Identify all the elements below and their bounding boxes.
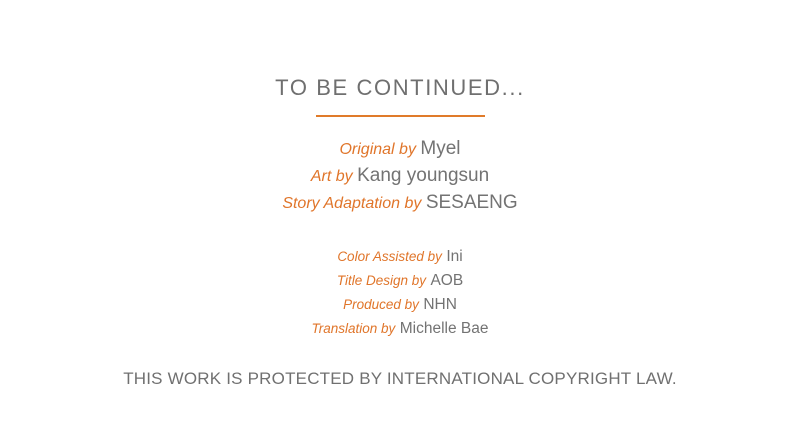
credit-name: AOB [430, 272, 463, 289]
end-card-panel: TO BE CONTINUED... Original by Myel Art … [0, 0, 800, 427]
credit-line: Translation by Michelle Bae [0, 317, 800, 341]
credits-primary-block: Original by Myel Art by Kang youngsun St… [0, 136, 800, 217]
credit-line: Art by Kang youngsun [0, 163, 800, 190]
credit-name: Kang youngsun [357, 165, 489, 186]
copyright-notice: THIS WORK IS PROTECTED BY INTERNATIONAL … [0, 368, 800, 390]
credit-name: Myel [420, 138, 460, 159]
credit-line: Produced by NHN [0, 293, 800, 317]
credit-role: Color Assisted by [337, 249, 442, 264]
credit-role: Translation by [312, 321, 396, 336]
divider-container [0, 115, 800, 117]
credit-role: Original by [339, 141, 415, 158]
credits-secondary-block: Color Assisted by Ini Title Design by AO… [0, 245, 800, 341]
title-block: TO BE CONTINUED... [0, 74, 800, 102]
credit-role: Story Adaptation by [282, 195, 421, 212]
page-title: TO BE CONTINUED... [0, 74, 800, 102]
credit-name: Michelle Bae [400, 320, 489, 337]
footer-block: THIS WORK IS PROTECTED BY INTERNATIONAL … [0, 368, 800, 390]
credit-name: NHN [423, 296, 457, 313]
credit-role: Art by [311, 168, 353, 185]
credit-role: Title Design by [337, 273, 426, 288]
credit-role: Produced by [343, 297, 419, 312]
orange-divider-rule [316, 115, 485, 117]
credit-line: Color Assisted by Ini [0, 245, 800, 269]
credit-line: Original by Myel [0, 136, 800, 163]
credit-line: Story Adaptation by SESAENG [0, 190, 800, 217]
credit-name: Ini [446, 248, 462, 265]
credit-name: SESAENG [426, 192, 518, 213]
credit-line: Title Design by AOB [0, 269, 800, 293]
